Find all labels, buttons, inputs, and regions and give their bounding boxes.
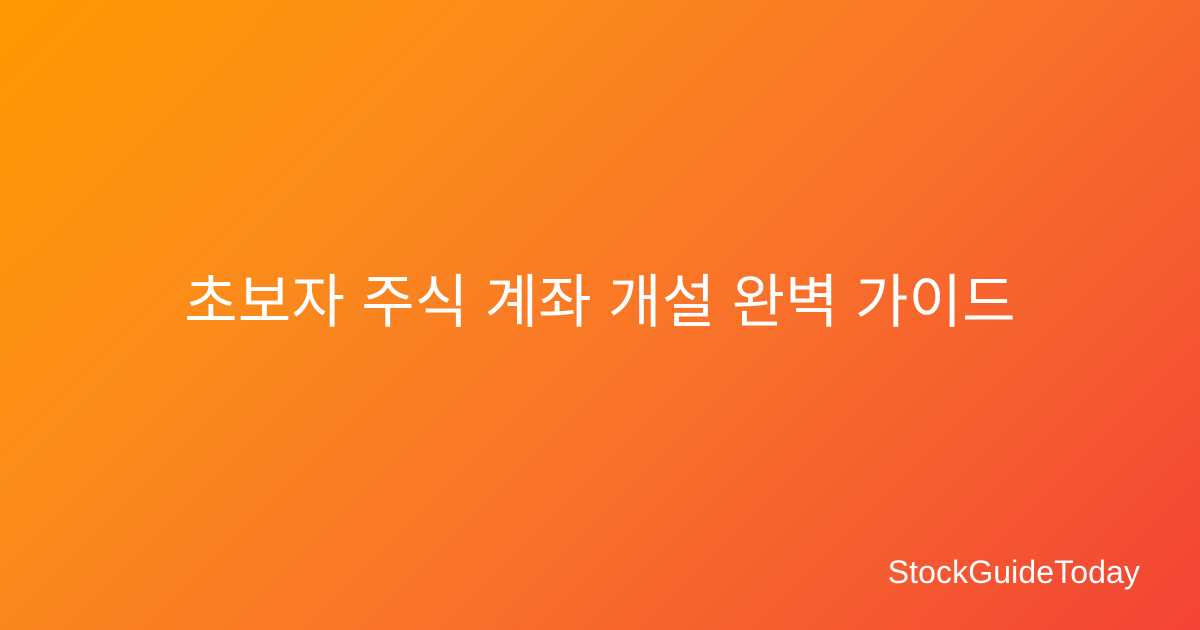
og-share-card: 초보자 주식 계좌 개설 완벽 가이드 StockGuideToday: [0, 0, 1200, 630]
headline-container: 초보자 주식 계좌 개설 완벽 가이드: [0, 0, 1200, 630]
page-title: 초보자 주식 계좌 개설 완벽 가이드: [184, 266, 1015, 340]
brand-name: StockGuideToday: [888, 556, 1140, 588]
